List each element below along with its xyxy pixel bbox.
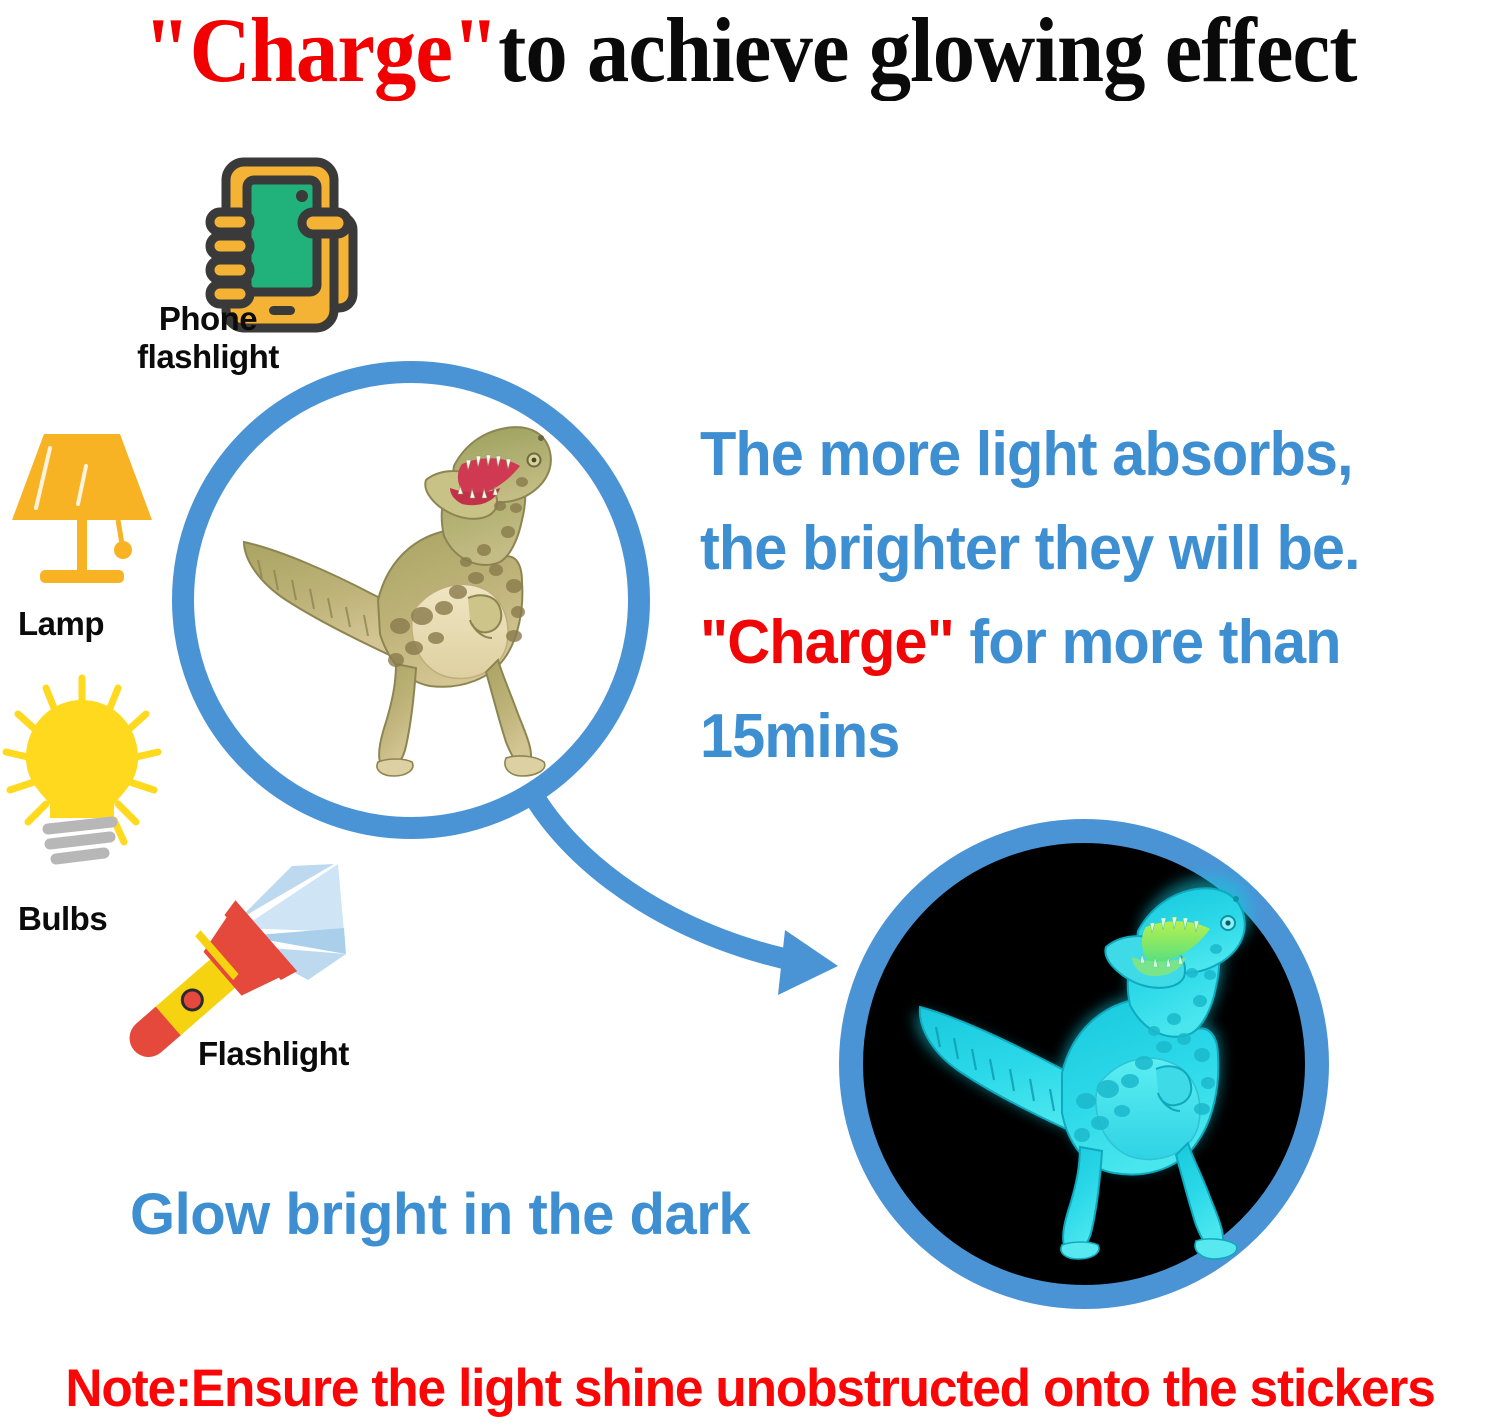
bottom-note: Note:Ensure the light shine unobstructed… — [23, 1358, 1478, 1420]
main-line-3-rest: for more than — [954, 608, 1341, 677]
charge-arrow-head — [778, 930, 838, 995]
glow-caption: Glow bright in the dark — [130, 1180, 890, 1250]
page-title-rest: to achieve glowing effect — [498, 0, 1356, 101]
main-charge-word: "Charge" — [700, 608, 954, 677]
lamp-icon — [6, 424, 158, 594]
phone-flashlight-label: Phone flashlight — [88, 300, 328, 376]
bulbs-label: Bulbs — [18, 900, 107, 938]
main-line-4: 15mins — [700, 690, 1468, 784]
flashlight-label: Flashlight — [198, 1035, 349, 1073]
infographic-canvas: "Charge"to achieve glowing effect — [0, 0, 1500, 1424]
main-line-3: "Charge" for more than — [700, 596, 1468, 690]
phone-flashlight-label-line2: flashlight — [137, 338, 279, 375]
lamp-label: Lamp — [18, 605, 104, 643]
phone-flashlight-label-line1: Phone — [159, 300, 257, 337]
main-description: The more light absorbs, the brighter the… — [700, 408, 1468, 784]
main-line-1: The more light absorbs, — [700, 408, 1468, 502]
page-title: "Charge"to achieve glowing effect — [60, 0, 1440, 104]
main-line-2: the brighter they will be. — [700, 502, 1468, 596]
light-bulb-icon — [2, 672, 162, 877]
page-title-charge: "Charge" — [144, 0, 499, 101]
charge-arrow-shaft — [533, 795, 800, 962]
dinosaur-glowing-illustration — [880, 855, 1290, 1275]
dinosaur-daylight-illustration — [200, 410, 620, 790]
